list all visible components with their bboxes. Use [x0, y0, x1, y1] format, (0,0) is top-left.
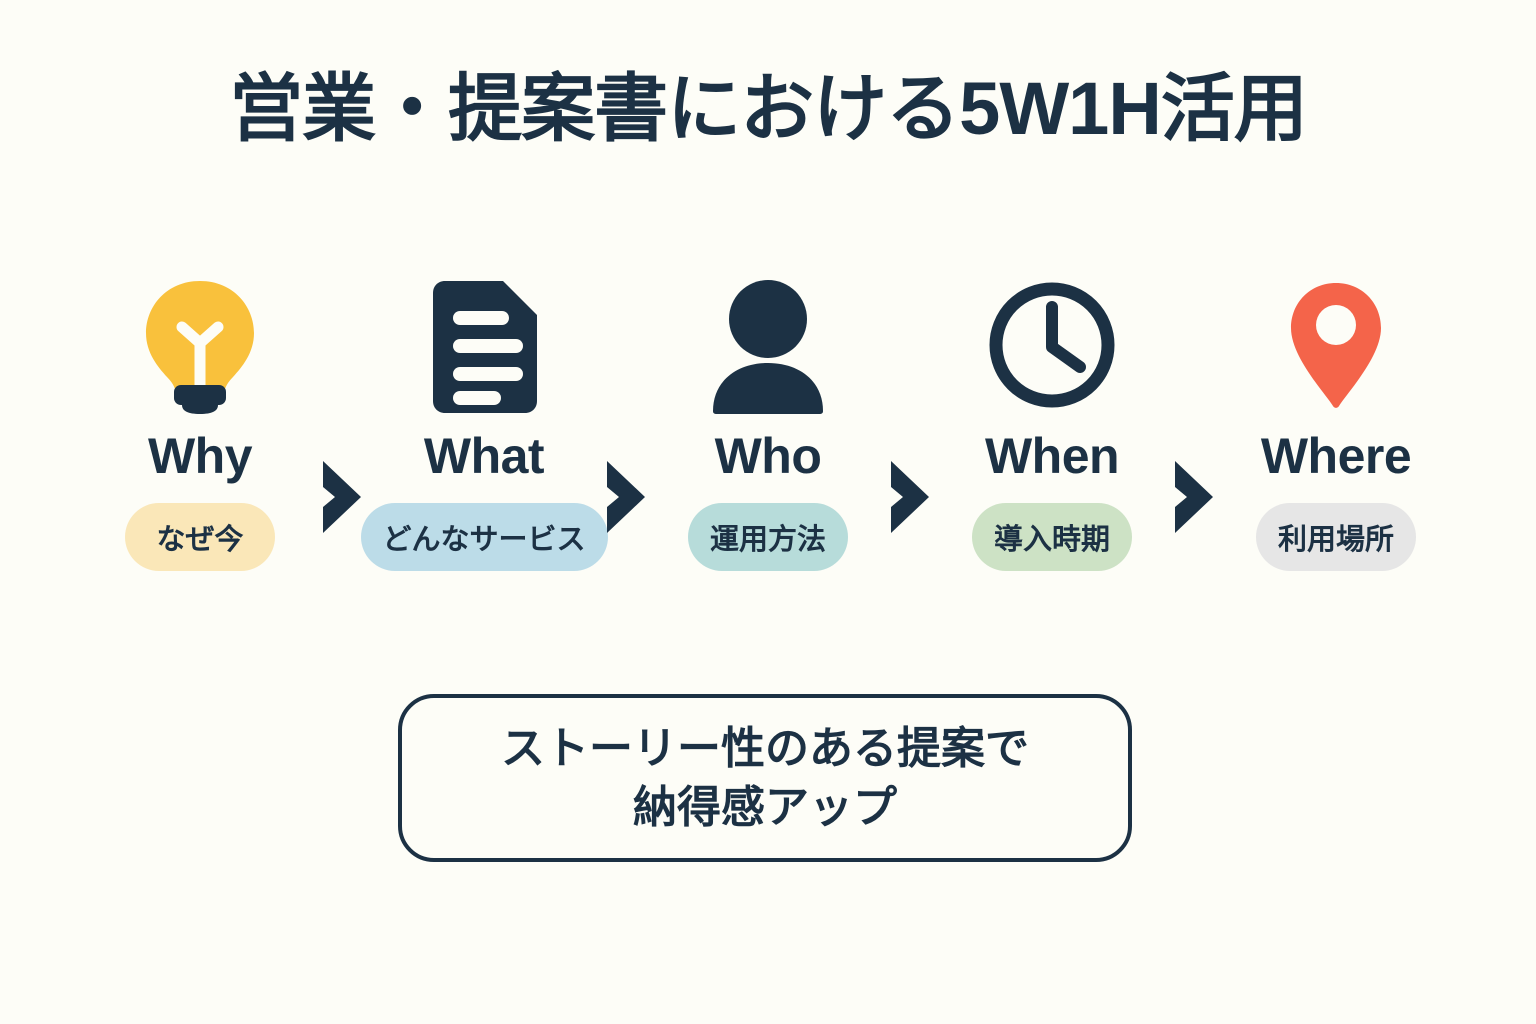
chevron-right-icon-2: [595, 275, 657, 537]
flow-step-pill-when: 導入時期: [972, 503, 1132, 571]
flow-step-pill-where: 利用場所: [1256, 503, 1416, 571]
summary-callout: ストーリー性のある提案で 納得感アップ: [398, 694, 1132, 862]
flow-step-label: Why: [148, 431, 252, 481]
person-icon: [705, 275, 831, 415]
page-title: 営業・提案書における5W1H活用: [0, 68, 1536, 149]
flow-step-who[interactable]: Who 運用方法: [664, 275, 872, 571]
flow-step-label: What: [424, 431, 544, 481]
flow-step-what[interactable]: What どんなサービス: [380, 275, 588, 571]
flow-step-label: Who: [715, 431, 822, 481]
flow-step-pill-who: 運用方法: [688, 503, 848, 571]
flow-step-pill-why: なぜ今: [125, 503, 275, 571]
flow-step-pill-what: どんなサービス: [361, 503, 608, 571]
flow-step-when[interactable]: When 導入時期: [948, 275, 1156, 571]
document-icon: [425, 275, 543, 415]
chevron-right-icon-1: [311, 275, 373, 537]
summary-line-2: 納得感アップ: [633, 778, 897, 837]
summary-line-1: ストーリー性のある提案で: [501, 719, 1029, 778]
lightbulb-icon: [140, 275, 260, 415]
chevron-right-icon-3: [879, 275, 941, 537]
clock-icon: [988, 275, 1116, 415]
chevron-right-icon-4: [1163, 275, 1225, 537]
flow-step-label: When: [985, 431, 1119, 481]
flow-step-where[interactable]: Where 利用場所: [1232, 275, 1440, 571]
location-pin-icon: [1283, 275, 1389, 415]
flow-step-label: Where: [1261, 431, 1411, 481]
flow-step-why[interactable]: Why なぜ今: [96, 275, 304, 571]
5w1h-flow-row: Why なぜ今 What どんなサービス: [96, 275, 1440, 571]
infographic-canvas: 営業・提案書における5W1H活用 Why なぜ今: [0, 0, 1536, 1024]
